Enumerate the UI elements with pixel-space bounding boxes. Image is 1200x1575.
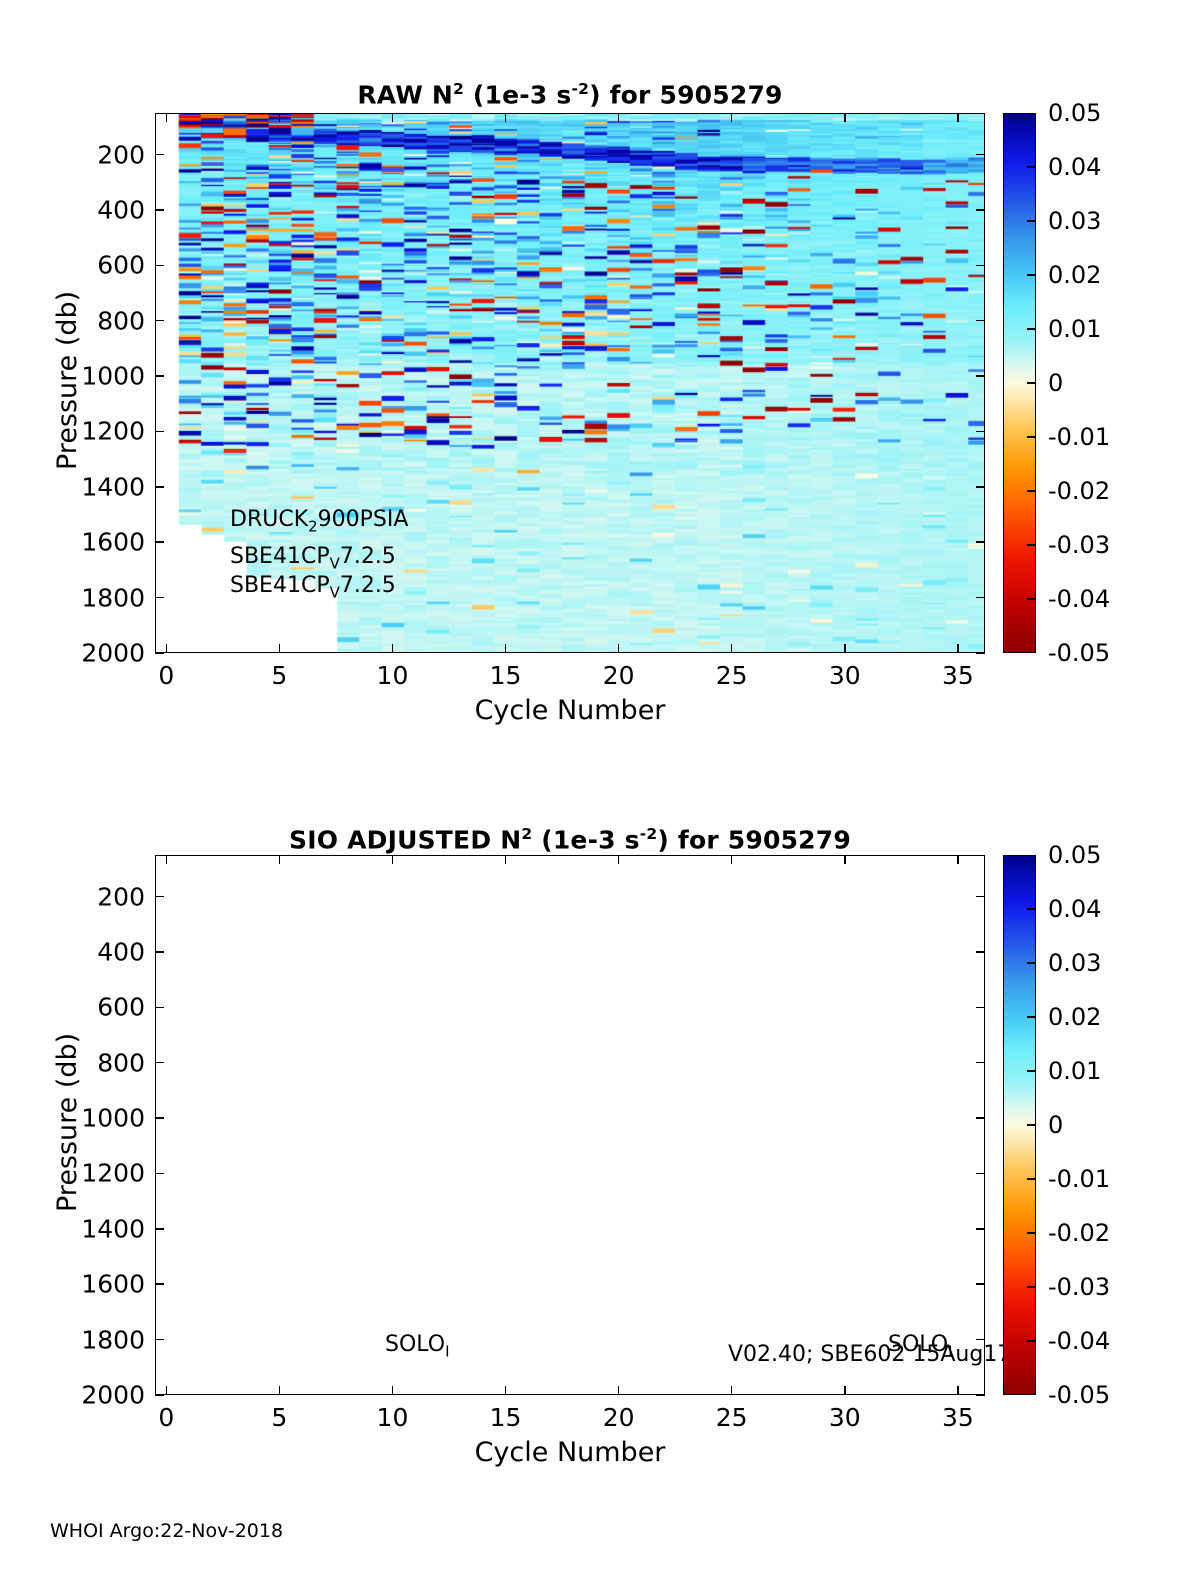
y-tick-mark — [976, 951, 985, 953]
x-tick-label: 0 — [158, 661, 174, 690]
x-tick-label: 20 — [603, 1403, 635, 1432]
y-tick-label: 800 — [27, 306, 145, 335]
colorbar-tick-label: 0.02 — [1048, 261, 1101, 289]
raw-y-axis-title: Pressure (db) — [52, 291, 83, 470]
y-tick-label: 1800 — [27, 1325, 145, 1354]
y-tick-label: 400 — [27, 937, 145, 966]
ctd-model-2: SBE41CPV7.2.5 — [230, 575, 396, 600]
x-tick-label: 30 — [829, 661, 861, 690]
y-tick-mark — [976, 154, 985, 156]
adjusted-plot-title: SIO ADJUSTED N2 (1e-3 s-2) for 5905279 — [155, 825, 985, 854]
y-tick-mark — [155, 1283, 164, 1285]
colorbar-tick-label: -0.04 — [1048, 585, 1110, 613]
y-tick-mark — [155, 1117, 164, 1119]
colorbar-tick-label: -0.03 — [1048, 1273, 1110, 1301]
colorbar-tick-label: 0.02 — [1048, 1003, 1101, 1031]
x-tick-mark — [957, 855, 959, 864]
ctd-pressure-sensor: DRUCK2900PSIA — [230, 509, 408, 534]
y-tick-label: 1000 — [27, 1104, 145, 1133]
x-tick-mark — [505, 644, 507, 653]
x-tick-label: 5 — [271, 1403, 287, 1432]
x-tick-mark — [166, 113, 168, 122]
x-tick-mark — [392, 113, 394, 122]
x-tick-mark — [844, 644, 846, 653]
y-tick-mark — [155, 597, 164, 599]
raw-axes — [155, 113, 985, 653]
x-tick-mark — [166, 1386, 168, 1395]
y-tick-mark — [976, 265, 985, 267]
y-tick-mark — [155, 154, 164, 156]
x-tick-mark — [279, 644, 281, 653]
y-tick-mark — [976, 1283, 985, 1285]
y-tick-mark — [155, 486, 164, 488]
y-tick-label: 1600 — [27, 528, 145, 557]
y-tick-mark — [976, 320, 985, 322]
y-tick-label: 1000 — [27, 362, 145, 391]
colorbar-tick-label: 0.01 — [1048, 315, 1101, 343]
colorbar-tick-label: -0.05 — [1048, 1381, 1110, 1409]
colorbar-tick-mark — [1027, 1340, 1035, 1342]
y-tick-label: 1400 — [27, 472, 145, 501]
y-tick-mark — [976, 375, 985, 377]
y-tick-label: 2000 — [27, 1381, 145, 1410]
y-tick-label: 200 — [27, 140, 145, 169]
y-tick-mark — [976, 1117, 985, 1119]
colorbar-tick-mark — [1027, 274, 1035, 276]
x-tick-label: 10 — [377, 1403, 409, 1432]
x-tick-mark — [731, 113, 733, 122]
colorbar-tick-mark — [1027, 436, 1035, 438]
y-tick-label: 1400 — [27, 1214, 145, 1243]
y-tick-mark — [976, 1228, 985, 1230]
colorbar-tick-mark — [1027, 1178, 1035, 1180]
y-tick-mark — [155, 896, 164, 898]
x-tick-mark — [957, 644, 959, 653]
x-tick-label: 20 — [603, 661, 635, 690]
colorbar-tick-label: 0 — [1048, 369, 1063, 397]
colorbar-tick-mark — [1027, 328, 1035, 330]
colorbar-tick-mark — [1027, 1070, 1035, 1072]
colorbar-tick-mark — [1027, 1016, 1035, 1018]
y-tick-label: 600 — [27, 251, 145, 280]
adjusted-heatmap-canvas — [156, 856, 984, 1394]
colorbar-tick-label: 0 — [1048, 1111, 1063, 1139]
colorbar-tick-label: 0.03 — [1048, 207, 1101, 235]
colorbar-tick-mark — [1027, 220, 1035, 222]
colorbar-tick-label: -0.03 — [1048, 531, 1110, 559]
colorbar-tick-mark — [1027, 382, 1035, 384]
colorbar-tick-mark — [1027, 1124, 1035, 1126]
colorbar-tick-label: 0.04 — [1048, 153, 1101, 181]
x-tick-label: 10 — [377, 661, 409, 690]
colorbar-tick-label: -0.01 — [1048, 423, 1110, 451]
x-tick-label: 5 — [271, 661, 287, 690]
colorbar-tick-mark — [1027, 490, 1035, 492]
float-type-left: SOLOI — [385, 1334, 450, 1359]
y-tick-mark — [976, 209, 985, 211]
y-tick-mark — [155, 431, 164, 433]
x-tick-mark — [957, 1386, 959, 1395]
y-tick-mark — [155, 1173, 164, 1175]
colorbar-tick-label: 0.03 — [1048, 949, 1101, 977]
y-tick-mark — [976, 1062, 985, 1064]
y-tick-label: 200 — [27, 882, 145, 911]
y-tick-mark — [155, 1394, 164, 1396]
y-tick-mark — [976, 652, 985, 654]
adjusted-axes — [155, 855, 985, 1395]
adjusted-y-axis-title: Pressure (db) — [52, 1033, 83, 1212]
y-tick-label: 1800 — [27, 583, 145, 612]
raw-x-axis-title: Cycle Number — [155, 695, 985, 726]
y-tick-label: 1600 — [27, 1270, 145, 1299]
colorbar-tick-mark — [1027, 962, 1035, 964]
x-tick-mark — [844, 855, 846, 864]
x-tick-label: 15 — [490, 1403, 522, 1432]
y-tick-mark — [155, 1062, 164, 1064]
y-tick-mark — [155, 541, 164, 543]
colorbar-tick-label: -0.04 — [1048, 1327, 1110, 1355]
x-tick-mark — [731, 644, 733, 653]
y-tick-mark — [155, 265, 164, 267]
x-tick-mark — [505, 113, 507, 122]
colorbar-tick-label: -0.02 — [1048, 1219, 1110, 1247]
x-tick-mark — [392, 644, 394, 653]
x-tick-mark — [166, 855, 168, 864]
y-tick-mark — [155, 209, 164, 211]
adjusted-x-axis-title: Cycle Number — [155, 1437, 985, 1468]
x-tick-mark — [166, 644, 168, 653]
colorbar-tick-label: -0.01 — [1048, 1165, 1110, 1193]
y-tick-mark — [976, 1007, 985, 1009]
colorbar-tick-mark — [1027, 166, 1035, 168]
x-tick-mark — [505, 855, 507, 864]
x-tick-mark — [618, 1386, 620, 1395]
y-tick-mark — [155, 375, 164, 377]
footer-credit: WHOI Argo:22-Nov-2018 — [50, 1520, 283, 1542]
y-tick-mark — [976, 1394, 985, 1396]
y-tick-mark — [155, 320, 164, 322]
x-tick-mark — [731, 1386, 733, 1395]
y-tick-label: 1200 — [27, 417, 145, 446]
x-tick-mark — [844, 113, 846, 122]
y-tick-label: 2000 — [27, 639, 145, 668]
raw-plot-title: RAW N2 (1e-3 s-2) for 5905279 — [155, 80, 985, 109]
colorbar-tick-label: 0.01 — [1048, 1057, 1101, 1085]
colorbar-tick-label: 0.05 — [1048, 99, 1101, 127]
y-tick-mark — [976, 1173, 985, 1175]
x-tick-label: 35 — [942, 1403, 974, 1432]
y-tick-mark — [976, 541, 985, 543]
ctd-model-1: SBE41CPV7.2.5 — [230, 546, 396, 571]
y-tick-mark — [155, 1228, 164, 1230]
y-tick-mark — [976, 486, 985, 488]
x-tick-mark — [618, 644, 620, 653]
x-tick-label: 0 — [158, 1403, 174, 1432]
y-tick-mark — [155, 1339, 164, 1341]
colorbar-tick-mark — [1027, 908, 1035, 910]
x-tick-mark — [279, 113, 281, 122]
colorbar-tick-mark — [1027, 1286, 1035, 1288]
x-tick-label: 30 — [829, 1403, 861, 1432]
x-tick-label: 25 — [716, 1403, 748, 1432]
y-tick-mark — [155, 1007, 164, 1009]
y-tick-label: 1200 — [27, 1159, 145, 1188]
colorbar-tick-mark — [1027, 544, 1035, 546]
x-tick-label: 35 — [942, 661, 974, 690]
y-tick-mark — [976, 1339, 985, 1341]
x-tick-mark — [279, 1386, 281, 1395]
x-tick-mark — [505, 1386, 507, 1395]
x-tick-mark — [392, 1386, 394, 1395]
colorbar-tick-label: 0.05 — [1048, 841, 1101, 869]
y-tick-mark — [976, 896, 985, 898]
colorbar-tick-label: -0.02 — [1048, 477, 1110, 505]
colorbar-tick-label: -0.05 — [1048, 639, 1110, 667]
y-tick-label: 800 — [27, 1048, 145, 1077]
x-tick-mark — [844, 1386, 846, 1395]
x-tick-label: 15 — [490, 661, 522, 690]
x-tick-label: 25 — [716, 661, 748, 690]
colorbar-tick-mark — [1027, 1232, 1035, 1234]
x-tick-mark — [957, 113, 959, 122]
float-type-right: SOLOI — [888, 1334, 953, 1359]
colorbar-tick-label: 0.04 — [1048, 895, 1101, 923]
x-tick-mark — [279, 855, 281, 864]
y-tick-label: 600 — [27, 993, 145, 1022]
firmware-version: V02.40; SBE602 15Aug17 — [728, 1344, 1011, 1366]
x-tick-mark — [731, 855, 733, 864]
y-tick-label: 400 — [27, 195, 145, 224]
x-tick-mark — [618, 113, 620, 122]
y-tick-mark — [976, 431, 985, 433]
y-tick-mark — [155, 652, 164, 654]
x-tick-mark — [392, 855, 394, 864]
y-tick-mark — [155, 951, 164, 953]
colorbar-tick-mark — [1027, 598, 1035, 600]
y-tick-mark — [976, 597, 985, 599]
x-tick-mark — [618, 855, 620, 864]
